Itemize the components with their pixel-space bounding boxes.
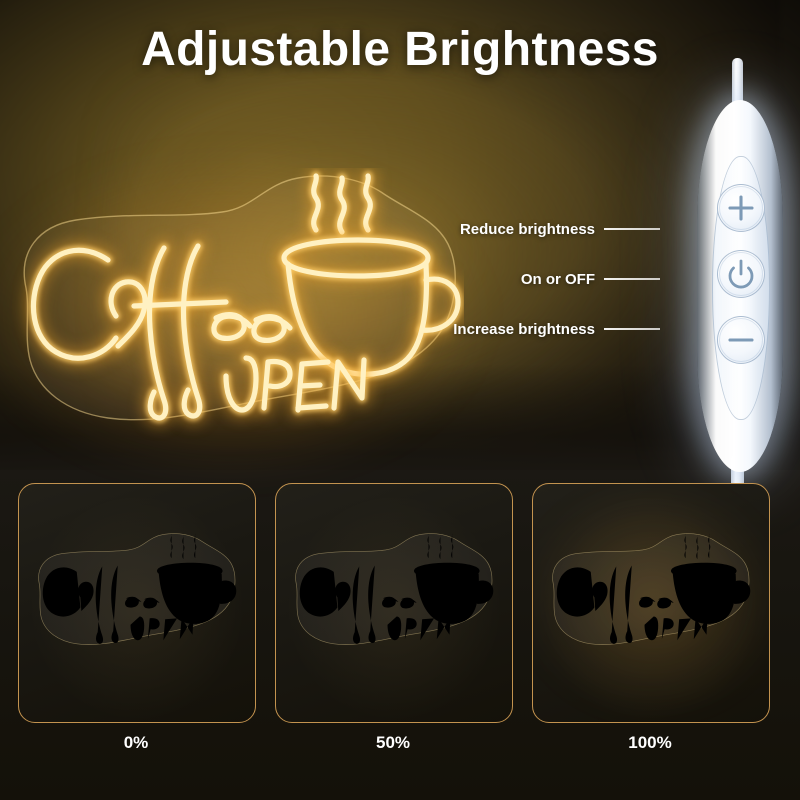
- product-image: Adjustable Brightness: [0, 0, 800, 800]
- callout-label: On or OFF: [521, 271, 595, 288]
- minus-icon: [718, 317, 764, 363]
- brightness-level-label: 100%: [532, 733, 768, 753]
- brightness-panel-50: [275, 483, 513, 723]
- power-button[interactable]: [717, 250, 765, 298]
- callout-increase-brightness: Increase brightness: [330, 318, 660, 340]
- hero-coffee-open-neon-sign: [12, 168, 464, 458]
- leader-line: [604, 328, 660, 330]
- power-icon: [718, 251, 764, 297]
- leader-line: [604, 228, 660, 230]
- remote-body: [697, 100, 783, 472]
- thumb-coffee-open-neon-sign: [33, 526, 239, 666]
- thumb-coffee-open-neon-sign: [547, 526, 753, 666]
- plus-icon: [718, 185, 764, 231]
- inline-dimmer-remote: [688, 58, 800, 498]
- reduce-brightness-button[interactable]: [717, 316, 765, 364]
- callout-reduce-brightness: Reduce brightness: [330, 218, 660, 240]
- thumb-coffee-open-neon-sign: [290, 526, 496, 666]
- brightness-level-label: 50%: [275, 733, 511, 753]
- increase-brightness-button[interactable]: [717, 184, 765, 232]
- brightness-level-label: 0%: [18, 733, 254, 753]
- page-title: Adjustable Brightness: [0, 22, 800, 77]
- brightness-panel-0: [18, 483, 256, 723]
- callout-on-or-off: On or OFF: [330, 268, 660, 290]
- brightness-panel-100: [532, 483, 770, 723]
- callout-label: Increase brightness: [453, 321, 595, 338]
- callout-label: Reduce brightness: [460, 221, 595, 238]
- leader-line: [604, 278, 660, 280]
